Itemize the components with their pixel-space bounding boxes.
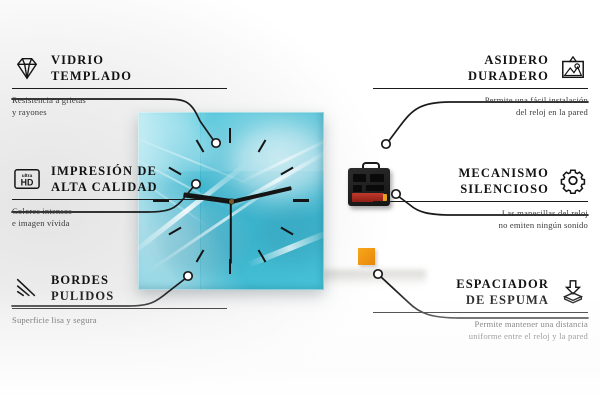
feature-title-line1: IMPRESIÓN DE xyxy=(51,164,157,178)
feature-title-line1: VIDRIO xyxy=(51,53,104,67)
feature-title-line2: PULIDOS xyxy=(51,289,114,303)
polished-edges-icon xyxy=(12,275,42,301)
tick-12 xyxy=(229,128,231,143)
feature-desc: Colores intensose imagen vívida xyxy=(12,205,227,229)
foam-spacer-icon xyxy=(558,279,588,305)
feature-impresion-alta-calidad: ultra HD IMPRESIÓN DEALTA CALIDAD Colore… xyxy=(12,163,227,229)
feature-desc: Permite mantener una distanciauniforme e… xyxy=(373,318,588,342)
feature-title-line2: TEMPLADO xyxy=(51,69,132,83)
feature-rule xyxy=(373,312,588,314)
feature-mecanismo-silencioso: MECANISMOSILENCIOSO Las manecillas del r… xyxy=(373,165,588,231)
feature-title-line1: ASIDERO xyxy=(484,53,549,67)
feature-desc: Las manecillas del relojno emiten ningún… xyxy=(373,207,588,231)
feature-title-line2: DE ESPUMA xyxy=(466,293,549,307)
feature-rule xyxy=(373,201,588,203)
ultra-hd-icon: ultra HD xyxy=(12,166,42,192)
feature-rule xyxy=(12,88,227,90)
feature-bordes-pulidos: BORDESPULIDOS Superficie lisa y segura xyxy=(12,272,227,326)
feature-asidero-duradero: ASIDERODURADERO Permite una fácil instal… xyxy=(373,52,588,118)
feature-rule xyxy=(12,308,227,310)
feature-desc: Resistencia a grietasy rayones xyxy=(12,94,227,118)
feature-title-line2: DURADERO xyxy=(468,69,549,83)
feature-desc: Superficie lisa y segura xyxy=(12,314,227,326)
infographic-canvas: VIDRIOTEMPLADO Resistencia a grietasy ra… xyxy=(0,0,600,400)
feature-title-line1: MECANISMO xyxy=(459,166,549,180)
feature-title-line1: BORDES xyxy=(51,273,109,287)
foam-spacer xyxy=(358,248,375,265)
picture-hanger-icon xyxy=(558,55,588,81)
feature-rule xyxy=(12,199,227,201)
feature-desc: Permite una fácil instalacióndel reloj e… xyxy=(373,94,588,118)
feature-title-line2: ALTA CALIDAD xyxy=(51,180,158,194)
svg-text:HD: HD xyxy=(21,178,34,188)
feature-espaciador-de-espuma: ESPACIADORDE ESPUMA Permite mantener una… xyxy=(373,276,588,342)
feature-vidrio-templado: VIDRIOTEMPLADO Resistencia a grietasy ra… xyxy=(12,52,227,118)
feature-rule xyxy=(373,88,588,90)
hand-cap xyxy=(229,199,234,204)
gear-icon xyxy=(558,168,588,194)
diamond-icon xyxy=(12,55,42,81)
second-hand xyxy=(230,202,232,264)
feature-title-line1: ESPACIADOR xyxy=(456,277,549,291)
tick-3 xyxy=(293,199,309,202)
feature-title-line2: SILENCIOSO xyxy=(460,182,549,196)
